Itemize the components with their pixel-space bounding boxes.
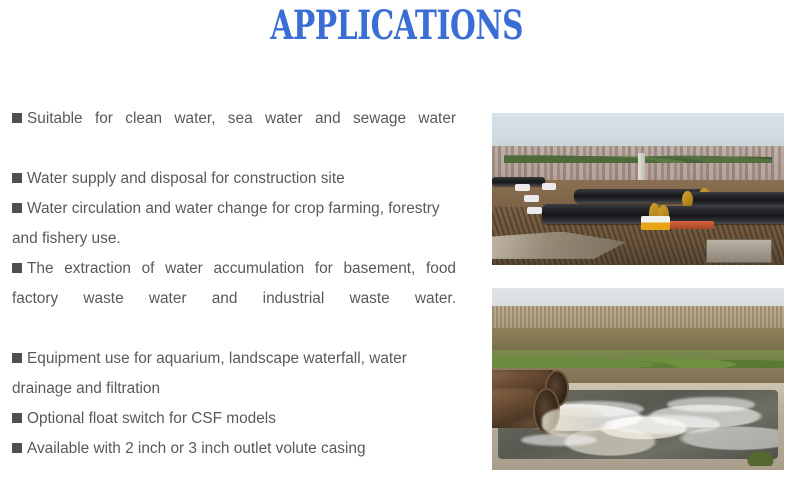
page-title-bar: APPLICATIONS: [0, 4, 794, 48]
bullet-square-icon: [12, 263, 22, 273]
photo-pipeline-artwork: [492, 113, 784, 265]
list-item-text: Optional float switch for CSF models: [27, 410, 276, 427]
parked-vehicle: [542, 183, 557, 190]
list-item: Water circulation and water change for c…: [12, 194, 456, 254]
list-item: Water supply and disposal for constructi…: [12, 164, 456, 194]
list-item: Equipment use for aquarium, landscape wa…: [12, 344, 456, 404]
water-foam: [609, 415, 720, 433]
photo-pipeline-construction-site: [492, 113, 784, 265]
list-item-text: Available with 2 inch or 3 inch outlet v…: [27, 440, 366, 457]
list-item: The extraction of water accumulation for…: [12, 254, 456, 344]
shrub: [743, 448, 778, 466]
bullet-square-icon: [12, 413, 22, 423]
work-truck: [641, 216, 670, 230]
water-foam: [667, 397, 755, 412]
list-item-text: Water circulation and water change for c…: [12, 200, 440, 247]
water-outflow-jet: [542, 408, 606, 437]
photo-discharge-artwork: [492, 288, 784, 470]
bullet-square-icon: [12, 113, 22, 123]
list-item: Available with 2 inch or 3 inch outlet v…: [12, 434, 456, 464]
parked-vehicle: [527, 207, 542, 214]
page-title: APPLICATIONS: [271, 4, 524, 48]
parked-vehicle: [524, 195, 539, 202]
bullet-square-icon: [12, 203, 22, 213]
list-item-text: Suitable for clean water, sea water and …: [27, 110, 456, 127]
list-item-text: Equipment use for aquarium, landscape wa…: [12, 350, 407, 397]
bullet-square-icon: [12, 353, 22, 363]
photo-water-discharge-outfall: [492, 288, 784, 470]
bullet-square-icon: [12, 173, 22, 183]
concrete-structure: [706, 239, 772, 264]
list-item: Suitable for clean water, sea water and …: [12, 104, 456, 164]
applications-list: Suitable for clean water, sea water and …: [12, 104, 456, 464]
bullet-square-icon: [12, 443, 22, 453]
list-item-text: Water supply and disposal for constructi…: [27, 170, 345, 187]
parked-vehicle: [515, 184, 530, 191]
applications-page: APPLICATIONS Suitable for clean water, s…: [0, 0, 794, 482]
list-item-text: The extraction of water accumulation for…: [12, 260, 456, 307]
list-item: Optional float switch for CSF models: [12, 404, 456, 434]
steel-pipe-section: [685, 192, 784, 207]
